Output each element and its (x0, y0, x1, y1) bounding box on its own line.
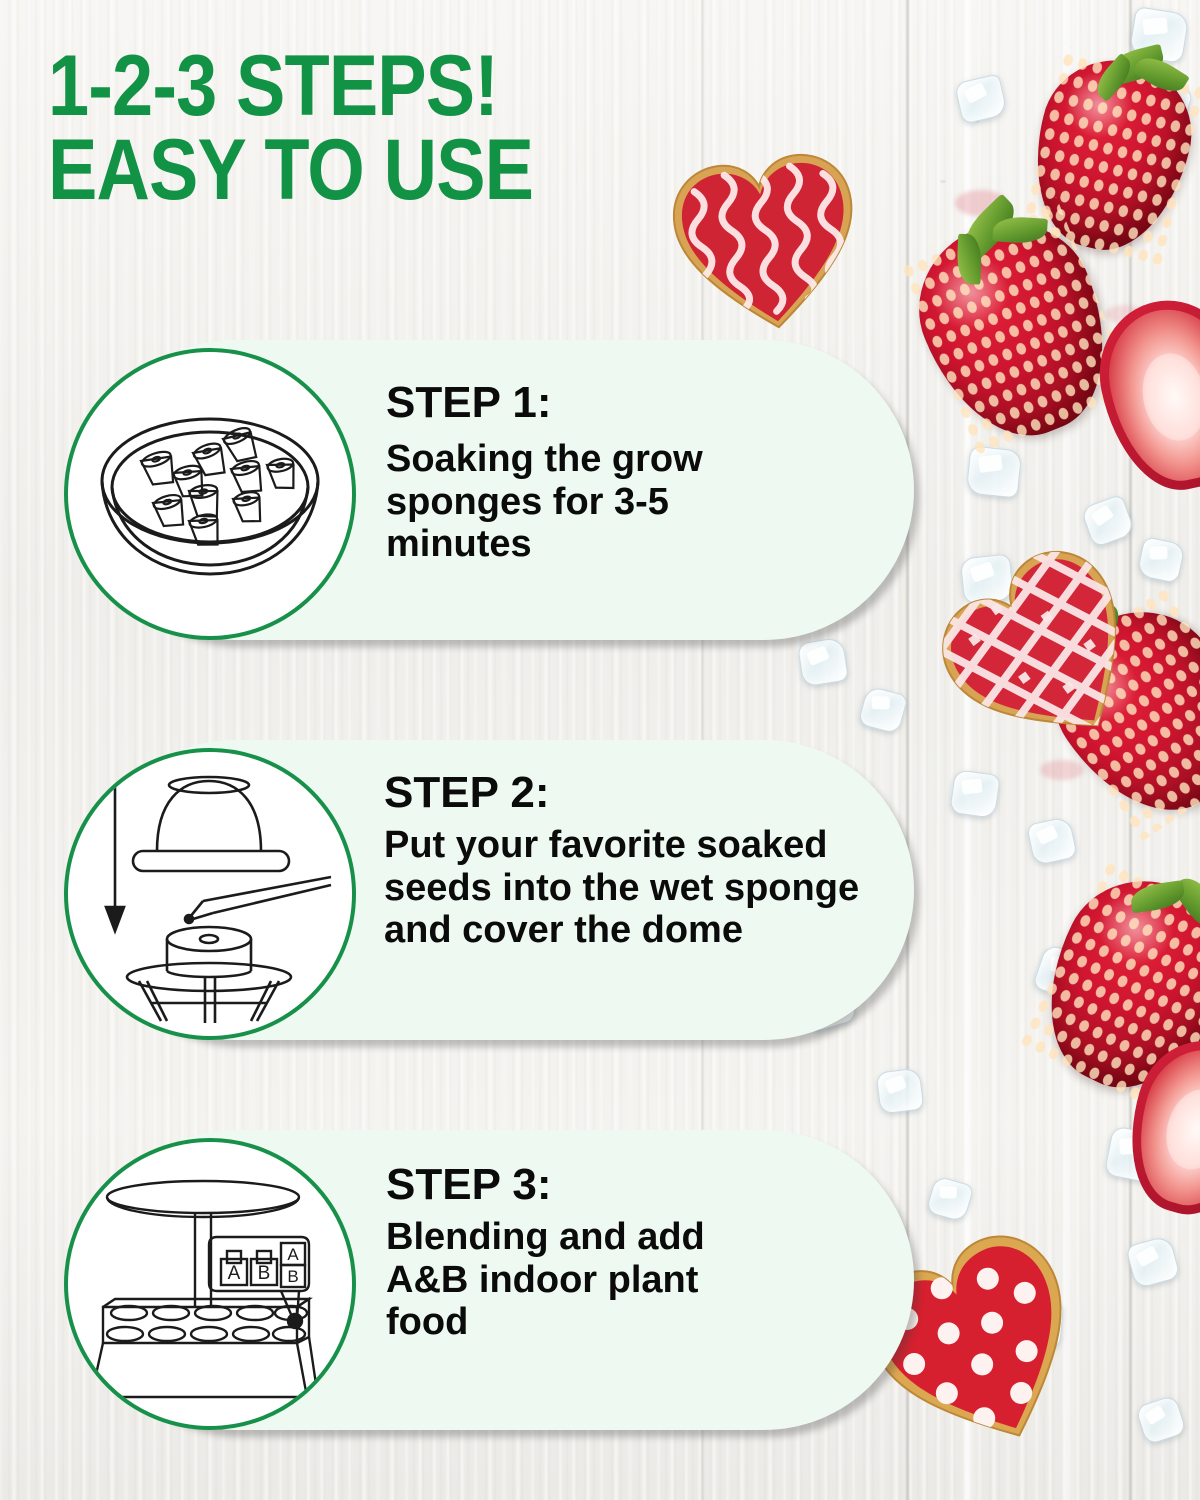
heart-cookie-shape (660, 140, 873, 347)
step-2-title: STEP 2: (384, 770, 890, 816)
callout-a-label: A (287, 1245, 299, 1264)
ice-cube (797, 637, 849, 688)
dome-tweezers-sponge-basket-icon (64, 748, 356, 1040)
hydroponic-garden-nutrients-icon: A B A B (64, 1138, 356, 1430)
ice-cube (876, 1067, 925, 1114)
step-3-text: STEP 3: Blending and add A&B indoor plan… (386, 1162, 890, 1344)
step-card-2[interactable]: STEP 2: Put your favorite soaked seeds i… (86, 740, 914, 1040)
step-1-title: STEP 1: (386, 380, 890, 426)
callout-b-label: B (287, 1267, 298, 1286)
step-1-text: STEP 1: Soaking the grow sponges for 3-5… (386, 380, 890, 566)
step-2-body: Put your favorite soaked seeds into the … (384, 824, 890, 952)
step-3-body: Blending and add A&B indoor plant food (386, 1216, 890, 1344)
step-card-1[interactable]: STEP 1: Soaking the grow sponges for 3-5… (86, 340, 914, 640)
wood-grain-speck (940, 180, 946, 183)
poster-canvas: 1-2-3 STEPS! EASY TO USE (0, 0, 1200, 1500)
step-1-body: Soaking the grow sponges for 3-5 minutes (386, 438, 890, 566)
heart-cookie-feathered (660, 140, 873, 347)
ice-cube (949, 769, 1001, 819)
bowl-with-grow-sponges-icon (64, 348, 356, 640)
bottle-a-label: A (228, 1263, 241, 1284)
step-card-3[interactable]: A B A B STEP 3: Blending and add A&B ind… (86, 1130, 914, 1430)
page-headline: 1-2-3 STEPS! EASY TO USE (48, 44, 581, 213)
bottle-b-label: B (258, 1263, 271, 1284)
step-3-title: STEP 3: (386, 1162, 890, 1208)
step-2-text: STEP 2: Put your favorite soaked seeds i… (384, 770, 890, 952)
